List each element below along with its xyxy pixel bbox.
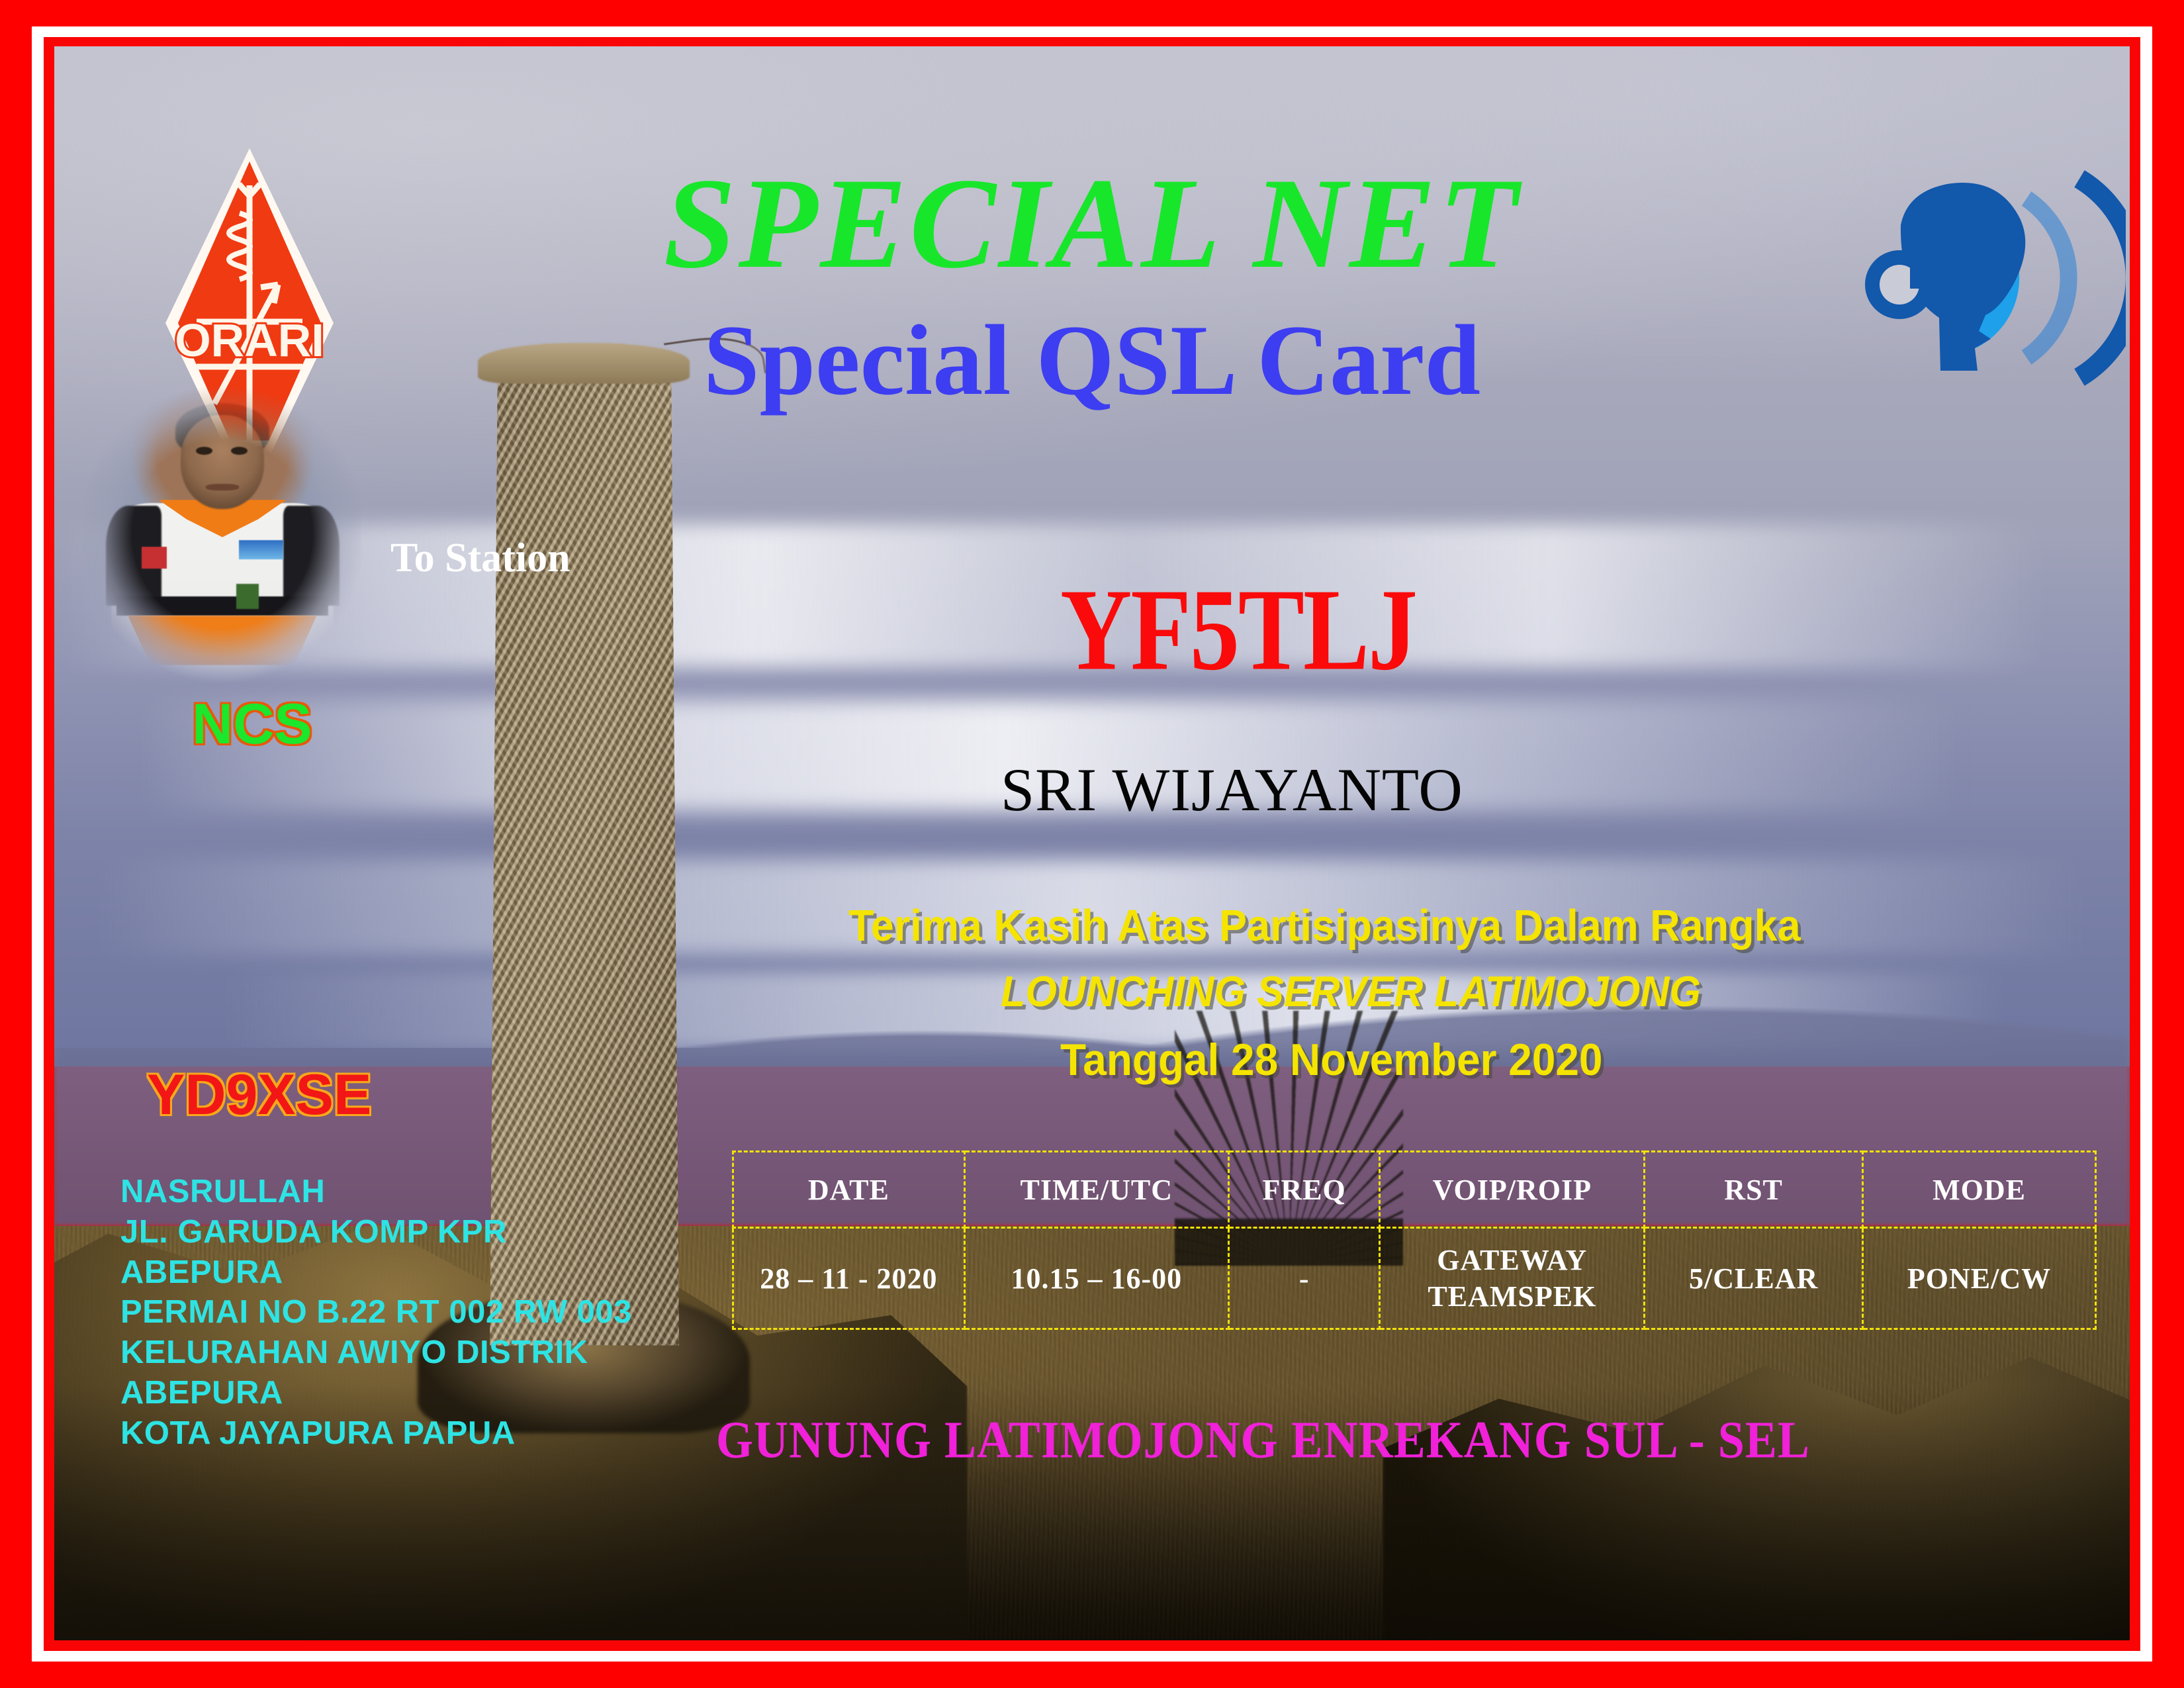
to-station-label: To Station [390,535,570,582]
portrait-eye-right [231,447,248,455]
portrait-mouth [206,484,239,490]
cell-date: 28 – 11 - 2020 [733,1228,965,1329]
cell-voip-line1: GATEWAY [1381,1242,1643,1278]
qsl-card: ORARI [0,0,2184,1688]
thanks-message: Terima Kasih Atas Partisipasinya Dalam R… [848,900,1801,951]
cell-freq: - [1228,1228,1380,1329]
qso-log-table: DATE TIME/UTC FREQ VOIP/ROIP RST MODE 28… [732,1150,2097,1330]
table-header-rst: RST [1645,1152,1863,1228]
station-callsign: YF5TLJ [1060,563,1416,697]
ncs-operator-portrait [83,378,361,690]
event-title: LOUNCHING SERVER LATIMOJONG [1001,966,1701,1016]
portrait-eye-left [196,447,212,455]
table-row: 28 – 11 - 2020 10.15 – 16-00 - GATEWAY T… [733,1228,2096,1329]
page-subtitle: Special QSL Card [54,310,2130,410]
table-header-row: DATE TIME/UTC FREQ VOIP/ROIP RST MODE [733,1152,2096,1228]
footer-slogan: "AMATIR RADIO ADALAH PROGRESIVE" [134,1635,1031,1640]
portrait-shoulder-right [283,506,339,606]
portrait-patch [142,547,167,569]
footer-web-address: Address : amatir.latimojong.com [1312,1632,1979,1640]
card-content-area: ORARI [54,46,2130,1640]
operator-name: SRI WIJAYANTO [1001,755,1463,825]
location-caption: GUNUNG LATIMOJONG ENREKANG SUL - SEL [716,1410,1810,1470]
portrait-orange-sash [128,616,317,666]
cell-rst: 5/CLEAR [1645,1228,1863,1329]
table-header-voip: VOIP/ROIP [1380,1152,1645,1228]
cell-voip-line2: TEAMSPEK [1381,1278,1643,1315]
event-date: Tanggal 28 November 2020 [1060,1034,1602,1086]
address-line: NASRULLAH [120,1172,632,1212]
address-line: PERMAI NO B.22 RT 002 RW 003 [120,1292,632,1333]
address-line: JL. GARUDA KOMP KPR [120,1212,632,1252]
page-title: SPECIAL NET [54,159,2130,289]
table-header-freq: FREQ [1228,1152,1380,1228]
portrait-belt [116,596,328,615]
table-header-mode: MODE [1863,1152,2096,1228]
address-line: ABEPURA [120,1373,632,1413]
portrait-id-card [236,584,259,609]
cell-mode: PONE/CW [1863,1228,2096,1329]
portrait-badge [239,540,283,559]
address-line: KELURAHAN AWIYO DISTRIK [120,1333,632,1373]
ncs-label: NCS [192,692,312,757]
address-line: KOTA JAYAPURA PAPUA [120,1413,632,1454]
cell-voip: GATEWAY TEAMSPEK [1380,1228,1645,1329]
table-header-date: DATE [733,1152,965,1228]
portrait-face [181,415,264,509]
cell-time: 10.15 – 16-00 [964,1228,1228,1329]
address-line: ABEPURA [120,1252,632,1293]
table-header-time: TIME/UTC [964,1152,1228,1228]
ncs-callsign: YD9XSE [147,1062,371,1128]
ncs-address-block: NASRULLAH JL. GARUDA KOMP KPR ABEPURA PE… [120,1172,632,1453]
